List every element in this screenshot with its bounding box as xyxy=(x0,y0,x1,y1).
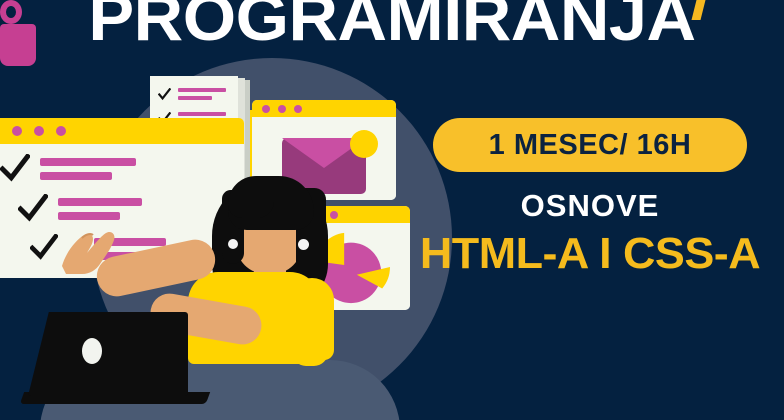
window-dot-icon xyxy=(34,126,44,136)
check-icon xyxy=(0,154,30,184)
window-dot-icon xyxy=(12,126,22,136)
check-icon xyxy=(18,194,48,224)
window-dot-icon xyxy=(294,105,302,113)
check-icon xyxy=(158,88,171,101)
panel-title: HTML-A I CSS-A xyxy=(400,231,779,277)
panel-subtitle: OSNOVE xyxy=(404,190,776,221)
window-titlebar xyxy=(0,118,244,144)
content-line xyxy=(58,212,120,220)
laptop-logo-icon xyxy=(82,338,102,364)
sleeve-right xyxy=(292,300,328,366)
laptop-lid[interactable] xyxy=(28,312,188,396)
window-dot-icon xyxy=(278,105,286,113)
info-panel: 1 MESEC/ 16H OSNOVE HTML-A I CSS-A xyxy=(404,118,776,277)
window-titlebar xyxy=(252,100,396,117)
paper-line xyxy=(178,112,226,116)
pointing-hand xyxy=(60,222,122,274)
check-icon xyxy=(30,234,58,262)
earring-left xyxy=(228,239,238,249)
paper-line xyxy=(178,88,226,92)
earring-right xyxy=(298,239,309,250)
page-title: PROGRAMIRANJA xyxy=(0,0,784,50)
promo-banner: PROGRAMIRANJA xyxy=(0,0,784,420)
window-dot-icon xyxy=(330,211,338,219)
notification-badge xyxy=(350,130,378,158)
content-line xyxy=(40,172,112,180)
window-dot-icon xyxy=(262,105,270,113)
paper-line xyxy=(178,96,212,100)
content-line xyxy=(58,198,142,206)
duration-badge: 1 MESEC/ 16H xyxy=(433,118,747,172)
window-dot-icon xyxy=(56,126,66,136)
content-line xyxy=(40,158,136,166)
